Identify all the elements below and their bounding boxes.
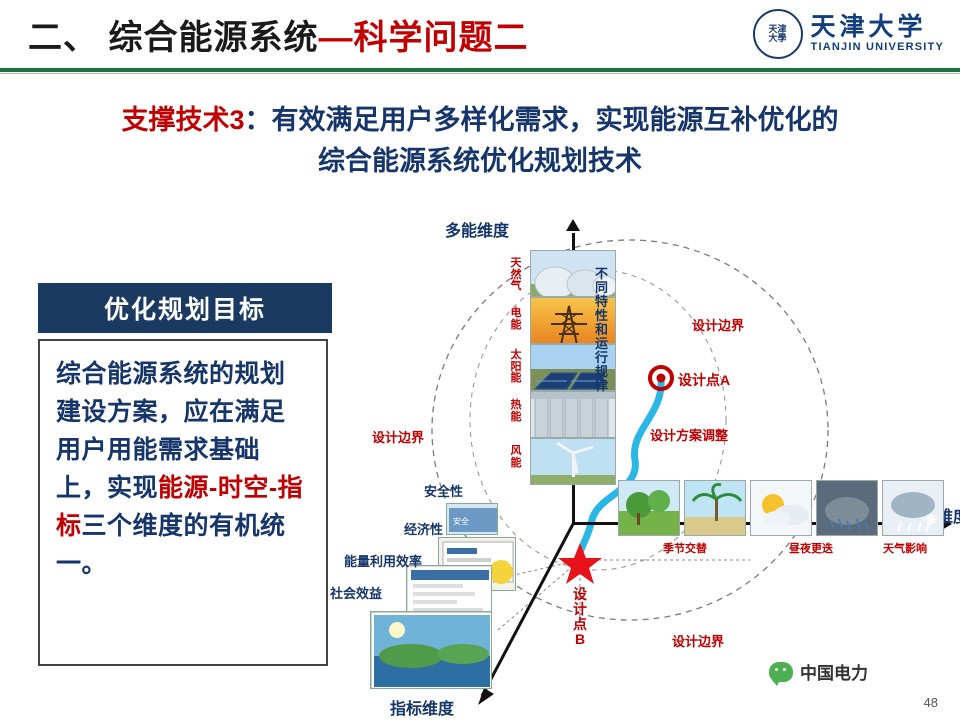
- logo-chinese-name: 天津大学: [811, 15, 927, 41]
- time-dimension-photo-row: 季节交替 昼夜更迭: [618, 480, 944, 536]
- energy-label-wind: 风能: [506, 446, 526, 469]
- design-point-a-inner: [657, 374, 666, 383]
- energy-label-heat: 热能: [506, 400, 526, 423]
- time-label-weather: 天气影响: [850, 540, 960, 556]
- energy-label-solar: 太阳能: [506, 350, 526, 385]
- annotation-design-boundary-left: 设计边界: [372, 427, 424, 446]
- design-point-b-label: 设计点B: [572, 587, 588, 647]
- photo-season-spring: [618, 480, 680, 536]
- seal-line-2: 大學: [769, 34, 787, 43]
- goal-panel-body: 综合能源系统的规划建设方案，应在满足用户用能需求基础上，实现能源-时空-指标三个…: [38, 339, 328, 666]
- logo-text: 天津大学 TIANJIN UNIVERSITY: [811, 15, 944, 53]
- photo-night: [816, 480, 878, 536]
- axis-label-vertical: 多能维度: [445, 217, 509, 241]
- vertical-axis-arrow-icon: [566, 219, 580, 231]
- header-divider: [0, 68, 960, 72]
- wechat-footer: 中国电力: [769, 659, 868, 684]
- design-point-a-label: 设计点A: [678, 370, 730, 390]
- annotation-scheme-adjust: 设计方案调整: [650, 425, 728, 444]
- svg-text:安全: 安全: [453, 516, 469, 526]
- energy-label-electricity: 电能: [506, 308, 526, 331]
- photo-wind-art: [531, 439, 616, 485]
- page-title-main: 二、 综合能源系统: [28, 19, 318, 57]
- subtitle-line-1: 支撑技术3：有效满足用户多样化需求，实现能源互补优化的: [0, 100, 960, 141]
- photo-day-art: [751, 481, 812, 536]
- photo-heat: [530, 391, 616, 438]
- index-label-economy: 经济性: [404, 519, 443, 538]
- index-label-social: 社会效益: [330, 583, 382, 602]
- photo-weather-art: [883, 481, 944, 536]
- depth-axis-arrow-icon: [478, 688, 494, 705]
- photo-social-benefit: [370, 611, 492, 689]
- energy-label-natural-gas: 天然气: [506, 258, 526, 293]
- wechat-account-name: 中国电力: [800, 659, 868, 684]
- subtitle-prefix: 支撑技术3: [121, 105, 244, 135]
- goal-body-part2: 三个维度的有机统一。: [56, 512, 286, 578]
- annotation-design-boundary-bottom: 设计边界: [672, 631, 724, 650]
- page-title-accent: —科学问题二: [318, 19, 528, 57]
- page-title: 二、 综合能源系统—科学问题二: [28, 10, 528, 59]
- photo-wind: [530, 438, 616, 485]
- photo-weather: [882, 480, 944, 536]
- goal-panel-header: 优化规划目标: [38, 283, 332, 333]
- page-number: 48: [924, 695, 938, 710]
- subtitle-block: 支撑技术3：有效满足用户多样化需求，实现能源互补优化的 综合能源系统优化规划技术: [0, 100, 960, 181]
- wechat-icon: [769, 662, 793, 682]
- university-logo: 天津 大學 天津大学 TIANJIN UNIVERSITY: [724, 5, 944, 63]
- header-divider-thin: [0, 73, 960, 74]
- time-label-season: 季节交替: [620, 540, 750, 556]
- photo-season-summer: [684, 480, 746, 536]
- photo-day: [750, 480, 812, 536]
- three-dimension-diagram: 多能维度 时空维度 指标维度 天然气 电能: [330, 215, 960, 715]
- annotation-vertical-characteristics: 不同特性和运行规律: [594, 267, 609, 393]
- index-label-efficiency: 能量利用效率: [344, 551, 422, 570]
- index-label-security: 安全性: [424, 481, 463, 500]
- photo-security: 安全: [446, 503, 498, 535]
- photo-security-art: 安全: [447, 504, 498, 535]
- photo-social-benefit-art: [371, 612, 492, 689]
- photo-night-art: [817, 481, 878, 536]
- subtitle-line-1-rest: ：有效满足用户多样化需求，实现能源互补优化的: [245, 105, 839, 135]
- photo-heat-art: [531, 392, 616, 438]
- photo-season-summer-art: [685, 481, 746, 536]
- axis-label-depth: 指标维度: [390, 695, 454, 719]
- university-seal-icon: 天津 大學: [753, 9, 803, 59]
- photo-season-spring-art: [619, 481, 680, 536]
- logo-english-name: TIANJIN UNIVERSITY: [811, 41, 944, 53]
- slide-header: 二、 综合能源系统—科学问题二 天津 大學 天津大学 TIANJIN UNIVE…: [0, 0, 960, 72]
- annotation-design-boundary-top: 设计边界: [692, 315, 744, 334]
- subtitle-line-2: 综合能源系统优化规划技术: [0, 141, 960, 182]
